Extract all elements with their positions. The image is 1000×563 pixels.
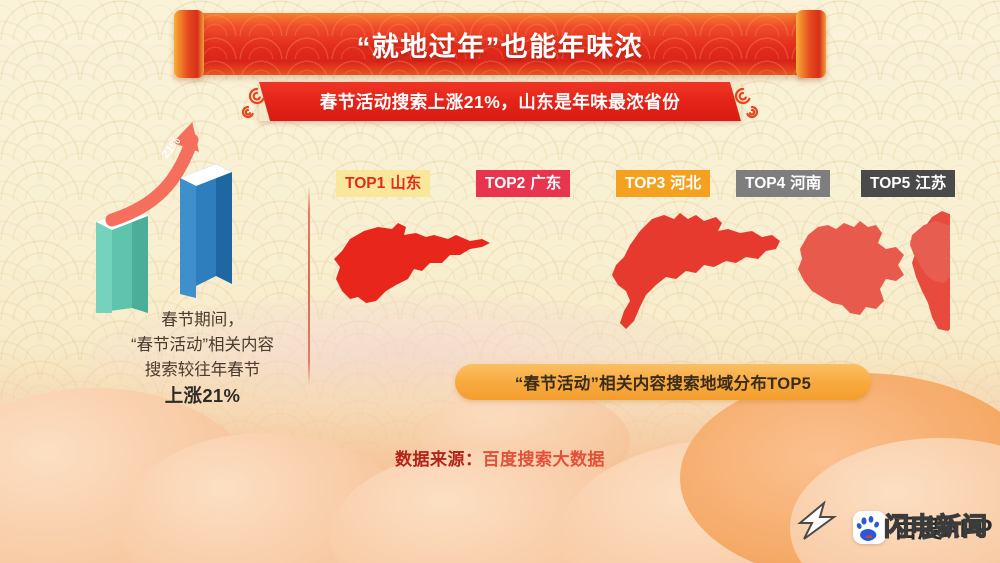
data-source-label: 数据来源： [395,450,483,469]
map-caption-pill: “春节活动”相关内容搜索地域分布TOP5 [455,364,871,400]
shandian-watermark-text: 闪电新闻 [884,507,988,543]
rank-province: 广东 [530,175,561,192]
province-maps-svg [330,205,950,335]
rank-province: 河北 [670,175,701,192]
rank-province: 江苏 [915,175,946,192]
subtitle-banner: 春节活动搜索上涨21%，山东是年味最浓省份 [237,82,763,121]
baidu-paw-icon [853,511,886,544]
rank-province: 山东 [390,175,421,192]
rank-label-top2: TOP2广东 [476,170,570,197]
title-banner: “就地过年”也能年味浓 [174,13,826,75]
map-shandong [334,223,490,303]
caption-line-2: “春节活动”相关内容 [70,333,335,358]
map-guangdong [612,213,780,329]
data-source-value: 百度搜索大数据 [483,450,606,469]
subtitle-text: 春节活动搜索上涨21%，山东是年味最浓省份 [237,82,763,121]
left-caption: 春节期间， “春节活动”相关内容 搜索较往年春节 上涨21% [70,308,335,408]
rank-number: TOP5 [870,175,910,192]
growth-bar-chart: 21% [92,118,262,313]
rank-label-top3: TOP3河北 [616,170,710,197]
rank-number: TOP1 [345,175,385,192]
caption-line-3: 搜索较往年春节 [70,358,335,383]
caption-line-1: 春节期间， [70,308,335,333]
lightning-bolt-icon [794,501,840,541]
caption-highlight: 上涨21% [70,383,335,408]
bar-last-year [96,208,148,313]
infographic-canvas: “就地过年”也能年味浓 春节活动搜索上涨21%，山东是年味最浓省份 [0,0,1000,563]
map-henan [798,221,904,315]
rank-province: 河南 [790,175,821,192]
rank-number: TOP2 [485,175,525,192]
province-map-group [330,205,950,335]
data-source: 数据来源：百度搜索大数据 [0,445,1000,470]
bar-this-year [180,164,232,298]
rank-label-top4: TOP4河南 [736,170,830,197]
page-title: “就地过年”也能年味浓 [174,13,826,75]
rank-label-top1: TOP1山东 [336,170,430,197]
watermark-group: 百度APP 闪电新闻 [853,499,992,555]
rank-number: TOP4 [745,175,785,192]
rank-label-top5: TOP5江苏 [861,170,955,197]
rank-number: TOP3 [625,175,665,192]
